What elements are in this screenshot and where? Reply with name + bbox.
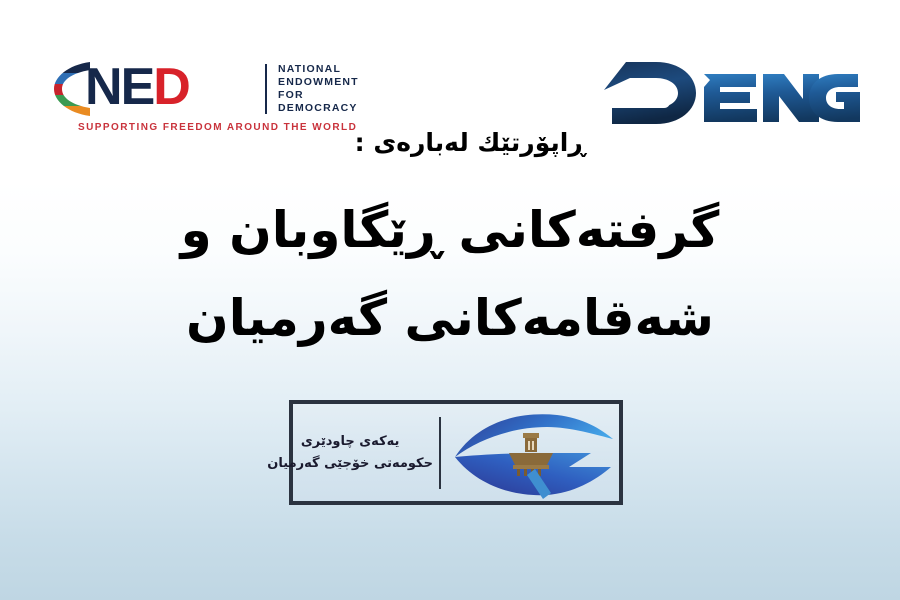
page-title-line-1: گرفتەکانی ڕێگاوبان و xyxy=(0,186,900,274)
ned-logo-top-row: NED NATIONAL ENDOWMENT FOR DEMOCRACY xyxy=(52,60,327,118)
deng-fist-icon xyxy=(626,85,670,108)
deng-e-letter xyxy=(704,74,757,122)
unit-logo-separator xyxy=(439,417,441,489)
unit-logo-text-line-1: یەکەی چاودێری xyxy=(267,431,433,453)
deng-g-letter xyxy=(809,74,860,122)
deng-wordmark-icon xyxy=(600,56,862,130)
unit-logo-text: یەکەی چاودێری حکومەتی خۆجێی گەرمیان xyxy=(267,431,437,475)
ned-wordmark-e: E xyxy=(121,58,154,116)
deng-logo xyxy=(600,56,862,130)
unit-logo-text-line-2: حکومەتی خۆجێی گەرمیان xyxy=(267,453,433,475)
ned-full-name-line-2: ENDOWMENT xyxy=(278,76,359,89)
monitoring-unit-logo-box: یەکەی چاودێری حکومەتی خۆجێی گەرمیان xyxy=(289,400,623,505)
ned-wordmark: NED xyxy=(85,58,189,116)
eye-magnifier-icon xyxy=(451,405,619,501)
page-title: گرفتەکانی ڕێگاوبان و شەقامەکانی گەرمیان xyxy=(0,186,900,362)
ned-full-name-line-3: FOR xyxy=(278,89,359,102)
ned-full-name-line-1: NATIONAL xyxy=(278,63,359,76)
ned-full-name: NATIONAL ENDOWMENT FOR DEMOCRACY xyxy=(278,63,359,115)
report-subtitle: ڕاپۆرتێك لەبارەی : xyxy=(0,128,900,157)
ned-wordmark-d: D xyxy=(153,58,189,116)
ned-wordmark-n: N xyxy=(85,58,121,116)
report-cover-poster: NED NATIONAL ENDOWMENT FOR DEMOCRACY SUP… xyxy=(0,0,900,600)
ned-logo-divider xyxy=(265,64,267,114)
page-title-line-2: شەقامەکانی گەرمیان xyxy=(0,274,900,362)
ned-full-name-line-4: DEMOCRACY xyxy=(278,102,359,115)
